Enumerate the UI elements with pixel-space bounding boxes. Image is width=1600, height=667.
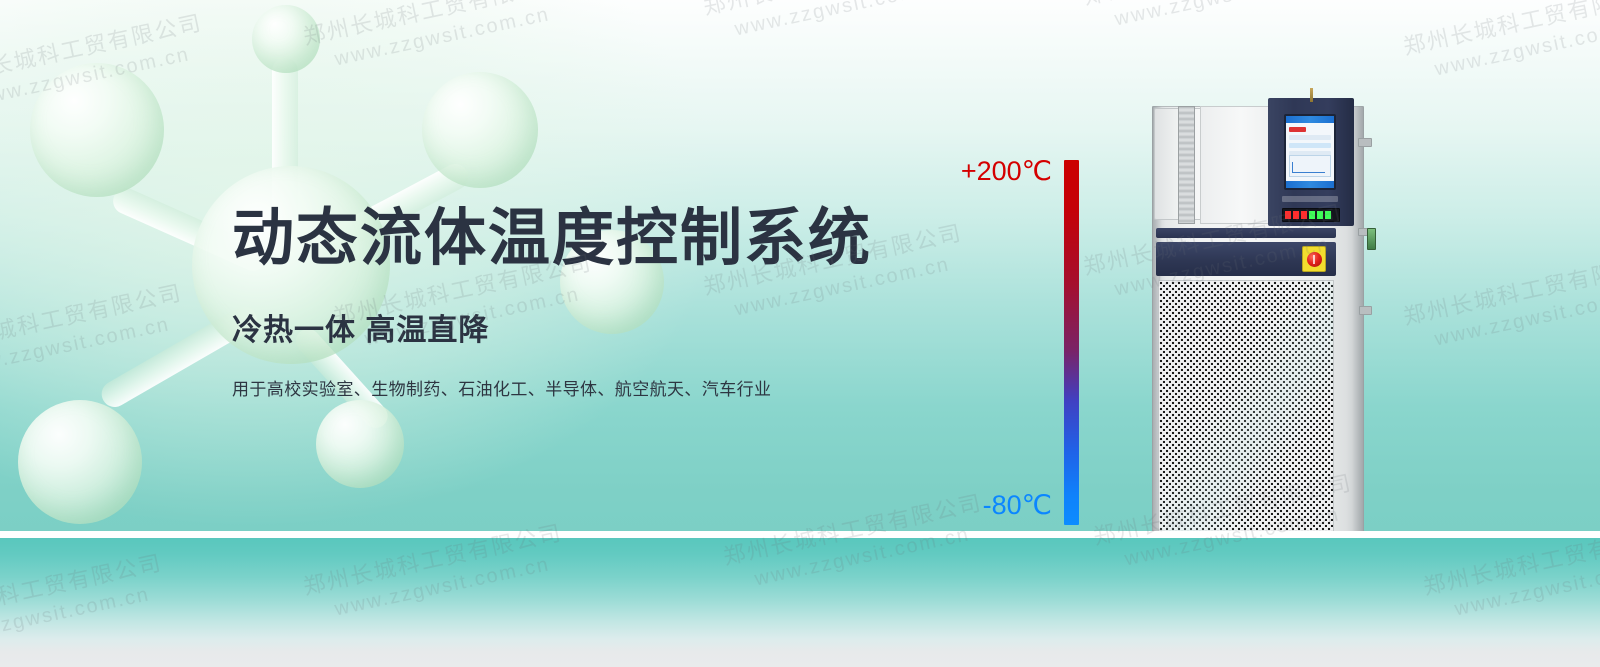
touch-screen[interactable]: [1284, 114, 1336, 190]
temperature-gradient-bar: [1064, 160, 1079, 525]
led-digit-green-3: [1325, 211, 1331, 219]
product-banner: 动态流体温度控制系统 冷热一体 高温直降 用于高校实验室、生物制药、石油化工、半…: [0, 0, 1600, 667]
brand-plate: [1282, 196, 1338, 202]
led-digit-red-2: [1293, 211, 1299, 219]
led-digit-red-1: [1285, 211, 1291, 219]
screen-row-2: [1289, 143, 1331, 148]
ventilation-grille: [1158, 280, 1334, 538]
horizon-divider: [0, 531, 1600, 538]
digital-display: [1282, 208, 1340, 222]
temperature-scale: +200℃ -80℃: [900, 150, 1090, 550]
led-digit-green-2: [1317, 211, 1323, 219]
screen-footer-bar: [1286, 181, 1334, 188]
machine-upper-navy-band: [1156, 228, 1336, 238]
led-digit-green-1: [1309, 211, 1315, 219]
screen-header-bar: [1286, 116, 1334, 123]
atom-lower-left: [18, 400, 142, 524]
emergency-stop[interactable]: [1302, 246, 1326, 272]
machine-sight-glass-column: [1178, 106, 1195, 224]
screen-row-1: [1289, 135, 1331, 140]
page-tagline: 用于高校实验室、生物制药、石油化工、半导体、航空航天、汽车行业: [232, 375, 932, 400]
led-digit-red-3: [1301, 211, 1307, 219]
atom-upper-left: [30, 63, 164, 197]
atom-lower-right: [316, 400, 404, 488]
machine-navy-band: [1156, 242, 1336, 276]
background-floor-gradient: [0, 538, 1600, 667]
screen-row-alert: [1289, 127, 1306, 132]
temperature-min-label: -80℃: [983, 490, 1052, 521]
atom-right: [422, 72, 538, 188]
side-port-lower: [1359, 306, 1372, 315]
side-port-green: [1367, 228, 1376, 250]
atom-top: [252, 5, 320, 73]
antenna-icon: [1310, 88, 1313, 102]
side-port-top: [1358, 138, 1372, 147]
temperature-max-label: +200℃: [961, 156, 1052, 187]
headline-copy: 动态流体温度控制系统 冷热一体 高温直降 用于高校实验室、生物制药、石油化工、半…: [232, 206, 932, 400]
control-panel[interactable]: [1268, 98, 1354, 226]
page-subtitle: 冷热一体 高温直降: [232, 305, 932, 349]
screen-trend-graph: [1289, 155, 1331, 177]
emergency-stop-button-icon[interactable]: [1307, 252, 1322, 267]
page-title: 动态流体温度控制系统: [232, 206, 932, 273]
grille-sheen: [1159, 281, 1333, 537]
